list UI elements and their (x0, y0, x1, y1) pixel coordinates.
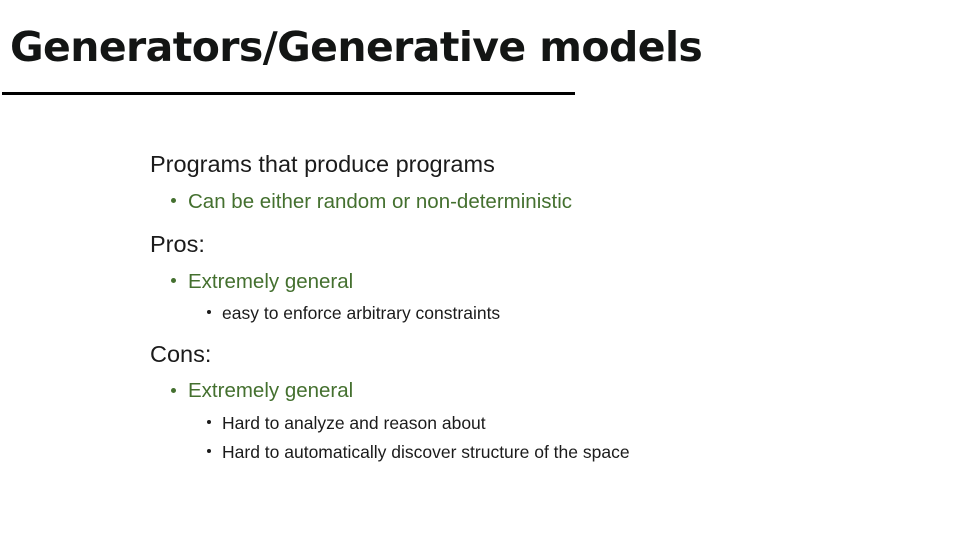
bullet-dot-icon (171, 198, 176, 203)
bullet-dot-icon (171, 388, 176, 393)
outline-item-label: Can be either random or non-deterministi… (188, 190, 572, 213)
outline-item-level1: Programs that produce programs (150, 143, 920, 183)
bullet-dot-icon (207, 449, 211, 453)
outline-item-label: Extremely general (188, 270, 353, 293)
slide-body-outline: Programs that produce programs Can be ei… (150, 143, 920, 466)
outline-item-level1: Cons: (150, 333, 920, 373)
outline-item-level2: Can be either random or non-deterministi… (150, 183, 920, 218)
title-divider (2, 92, 575, 95)
outline-item-label: Extremely general (188, 379, 353, 402)
bullet-dot-icon (207, 420, 211, 424)
outline-item-level2: Extremely general (150, 263, 920, 298)
outline-item-level3: Hard to automatically discover structure… (150, 436, 920, 466)
outline-item-label: Hard to analyze and reason about (222, 413, 486, 433)
bullet-dot-icon (171, 278, 176, 283)
outline-item-level3: easy to enforce arbitrary constraints (150, 297, 920, 327)
outline-item-level3: Hard to analyze and reason about (150, 407, 920, 437)
outline-item-label: easy to enforce arbitrary constraints (222, 303, 500, 323)
outline-item-level1: Pros: (150, 223, 920, 263)
bullet-dot-icon (207, 310, 211, 314)
slide-canvas: Generators/Generative models Programs th… (0, 0, 960, 540)
page-title: Generators/Generative models (10, 24, 702, 71)
outline-item-level2: Extremely general (150, 372, 920, 407)
outline-item-label: Hard to automatically discover structure… (222, 442, 630, 462)
